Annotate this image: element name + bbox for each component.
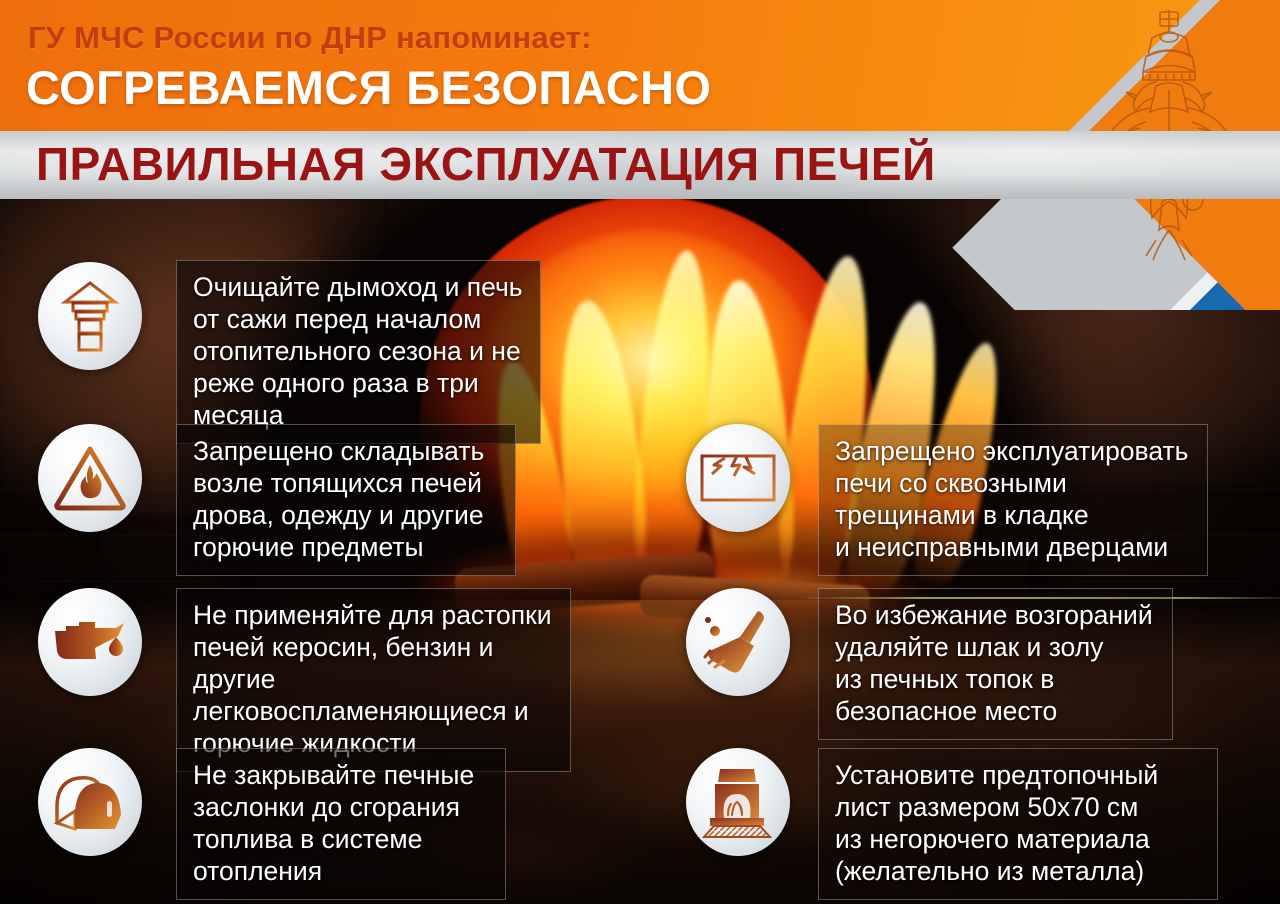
tip-icon-badge xyxy=(38,424,142,532)
tip-icon-badge xyxy=(38,262,142,370)
tip-text-panel: Не применяйте для растопки печей керосин… xyxy=(176,588,571,772)
tip-icon-badge xyxy=(38,588,142,696)
flammable-warning-triangle-icon xyxy=(53,445,127,511)
tip-block: Во избежание возгораний удаляйте шлак и … xyxy=(686,588,1173,740)
tip-text-panel: Запрещено складывать возле топящихся печ… xyxy=(176,424,516,576)
tip-block: Очищайте дымоход и печь от сажи перед на… xyxy=(38,262,541,444)
tip-block: Не применяйте для растопки печей керосин… xyxy=(38,588,571,772)
tip-icon-badge xyxy=(686,424,790,532)
tip-icon-badge xyxy=(686,748,790,856)
subtitle-band: ПРАВИЛЬНАЯ ЭКСПЛУАТАЦИЯ ПЕЧЕЙ xyxy=(0,131,1280,199)
tip-icon-badge xyxy=(686,588,790,696)
tip-text-panel: Очищайте дымоход и печь от сажи перед на… xyxy=(176,260,541,444)
tip-block: Не закрывайте печные заслонки до сгорани… xyxy=(38,748,506,900)
tip-text-panel: Не закрывайте печные заслонки до сгорани… xyxy=(176,748,506,900)
tip-text-panel: Запрещено эксплуатировать печи со сквозн… xyxy=(818,424,1208,576)
tip-block: Запрещено складывать возле топящихся печ… xyxy=(38,424,516,576)
poster-root: ГУ МЧС России по ДНР напоминает: СОГРЕВА… xyxy=(0,0,1280,904)
page-title: СОГРЕВАЕМСЯ БЕЗОПАСНО xyxy=(26,60,711,115)
header-agency-line: ГУ МЧС России по ДНР напоминает: xyxy=(28,20,592,56)
subtitle-text: ПРАВИЛЬНАЯ ЭКСПЛУАТАЦИЯ ПЕЧЕЙ xyxy=(36,137,936,191)
tip-text-panel: Установите предтопочный лист размером 50… xyxy=(818,748,1218,900)
tip-block: Запрещено эксплуатировать печи со сквозн… xyxy=(686,424,1208,576)
broom-sweeping-icon xyxy=(703,609,773,675)
stove-damper-icon xyxy=(53,771,127,833)
chimney-icon xyxy=(59,280,121,352)
furnace-hearth-plate-icon xyxy=(702,765,774,839)
tip-icon-badge xyxy=(38,748,142,856)
cracked-masonry-icon xyxy=(699,452,777,504)
tip-text-panel: Во избежание возгораний удаляйте шлак и … xyxy=(818,588,1173,740)
oil-can-icon xyxy=(50,615,130,669)
tip-block: Установите предтопочный лист размером 50… xyxy=(686,748,1218,900)
